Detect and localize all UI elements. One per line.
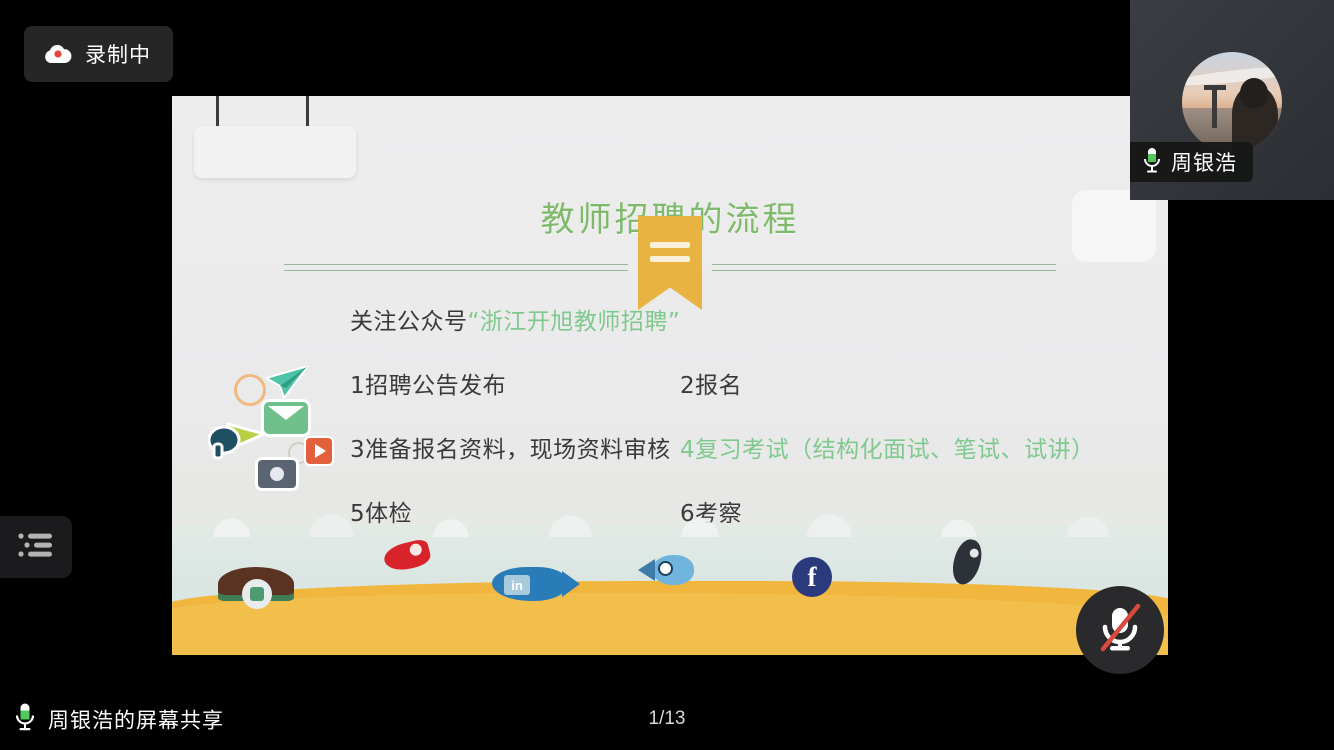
facebook-badge: f [792, 557, 832, 597]
slide-step-row-1: 1招聘公告发布 2报名 [350, 366, 1128, 400]
recording-badge[interactable]: 录制中 [24, 26, 173, 82]
share-owner: 周银浩的屏幕共享 [14, 702, 224, 737]
slide-step-row-2: 3准备报名资料，现场资料审核 4复习考试（结构化面试、笔试、试讲） [350, 430, 1128, 464]
linkedin-fish-icon: in [492, 567, 566, 601]
placard-string-left [216, 96, 219, 130]
placard-string-right [306, 96, 309, 130]
social-icon-cluster [206, 364, 336, 494]
microphone-muted-icon [1095, 602, 1145, 659]
subscribe-account: “浙江开旭教师招聘” [468, 309, 681, 335]
step-1: 1招聘公告发布 [350, 366, 680, 400]
avatar [1182, 52, 1282, 152]
screen-share-surface[interactable]: 教师招聘的流程 [172, 96, 1168, 655]
step-4: 4复习考试（结构化面试、笔试、试讲） [680, 430, 1095, 464]
hanging-placard-decoration [194, 96, 394, 182]
red-fish-icon [384, 543, 430, 569]
placard-board [194, 126, 356, 178]
divider-line-right [712, 264, 1056, 271]
recording-label: 录制中 [85, 39, 151, 69]
clock-icon [234, 374, 266, 406]
recording-cloud-icon [42, 43, 72, 65]
paper-plane-icon [266, 366, 308, 403]
self-name-chip: 周银浩 [1130, 142, 1253, 182]
dark-fish-icon [954, 539, 980, 585]
divider-line-left [284, 264, 628, 271]
step-2: 2报名 [680, 366, 742, 400]
page-indicator: 1/13 [649, 708, 686, 730]
list-icon [18, 532, 54, 563]
self-view-tile[interactable]: 周银浩 [1130, 0, 1334, 200]
meeting-stage: 教师招聘的流程 [0, 0, 1334, 750]
participant-list-button[interactable] [0, 516, 72, 578]
subscribe-line: 关注公众号“浙江开旭教师招聘” [350, 302, 1128, 336]
video-play-icon [306, 438, 332, 464]
twitter-fish-icon [652, 555, 694, 585]
camera-icon [258, 460, 296, 488]
share-owner-label: 周银浩的屏幕共享 [48, 704, 224, 734]
step-3: 3准备报名资料，现场资料审核 [350, 430, 680, 464]
self-name-label: 周银浩 [1171, 147, 1237, 177]
microphone-icon [1142, 147, 1162, 178]
shell-icon [218, 567, 294, 613]
slide-divider [284, 264, 1056, 270]
linkedin-badge: in [504, 575, 530, 595]
microphone-icon [14, 702, 36, 737]
mute-microphone-button[interactable] [1076, 586, 1164, 674]
slide-sand-front [172, 593, 1168, 655]
subscribe-prefix: 关注公众号 [350, 309, 468, 335]
megaphone-icon [208, 420, 264, 454]
slide-foam [172, 511, 1168, 537]
envelope-icon [264, 402, 308, 434]
facebook-fish-icon: f [792, 557, 832, 597]
bottom-bar: 周银浩的屏幕共享 1/13 [0, 688, 1334, 750]
